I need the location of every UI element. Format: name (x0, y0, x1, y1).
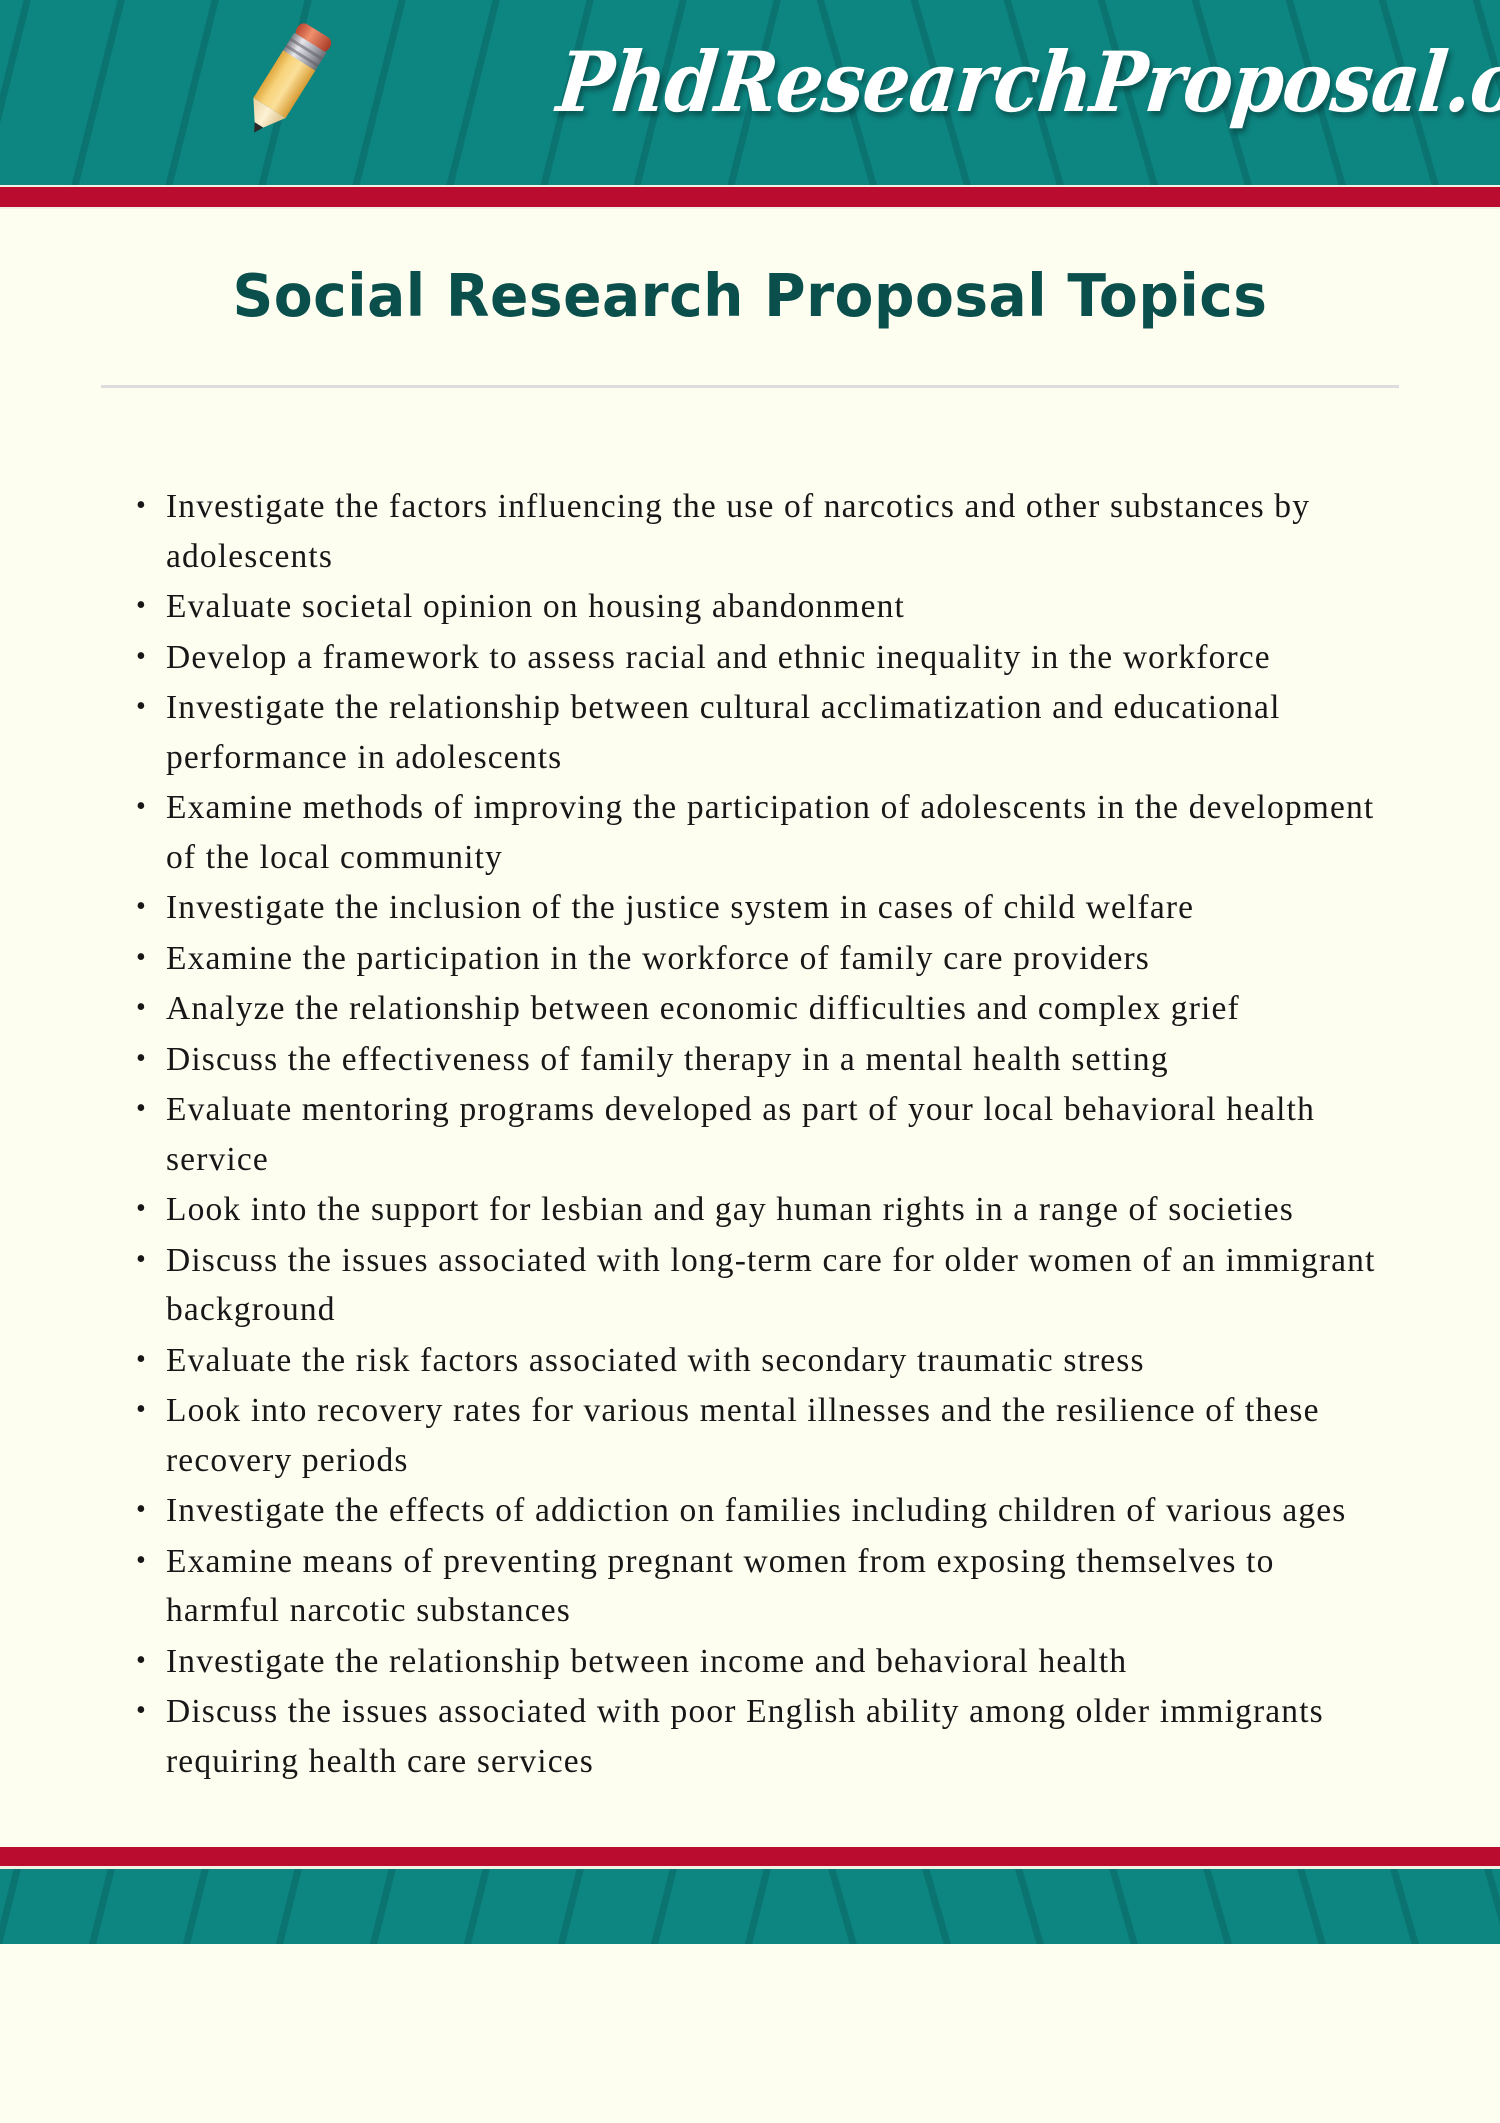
site-logo[interactable]: PhdResearchProposal.org (222, 18, 352, 143)
header-banner: PhdResearchProposal.org (0, 0, 1500, 185)
topic-list-item: Investigate the inclusion of the justice… (136, 883, 1390, 933)
decorative-stripe (812, 1869, 882, 1944)
footer-accent-bar (0, 1847, 1500, 1869)
decorative-stripe (1187, 1869, 1257, 1944)
decorative-stripe (1468, 1869, 1500, 1944)
topic-list-item: Investigate the factors influencing the … (136, 482, 1390, 581)
topic-list-item: Investigate the relationship between cul… (136, 683, 1390, 782)
topic-list-item: Look into recovery rates for various men… (136, 1386, 1390, 1485)
topic-list-item: Look into the support for lesbian and ga… (136, 1185, 1390, 1235)
decorative-stripe (629, 1869, 691, 1944)
footer-banner (0, 1869, 1500, 1944)
decorative-stripe (722, 1869, 784, 1944)
decorative-stripe (66, 1869, 128, 1944)
page-title: Social Research Proposal Topics (30, 245, 1470, 330)
topic-list-item: Investigate the effects of addiction on … (136, 1486, 1390, 1536)
header-accent-bar (0, 185, 1500, 209)
decorative-stripe (0, 1869, 35, 1944)
decorative-stripe (160, 1869, 222, 1944)
topic-list-item: Evaluate mentoring programs developed as… (136, 1085, 1390, 1184)
decorative-stripe (1093, 1869, 1163, 1944)
footer-stripe-pattern (0, 1869, 1500, 1944)
topic-list-item: Discuss the issues associated with poor … (136, 1687, 1390, 1786)
topic-list-item: Examine means of preventing pregnant wom… (136, 1537, 1390, 1636)
header-content: PhdResearchProposal.org (0, 0, 1500, 185)
pencil-icon (222, 18, 352, 143)
main-content: Social Research Proposal Topics Investig… (0, 209, 1500, 1786)
topic-list-item: Develop a framework to assess racial and… (136, 633, 1390, 683)
brand-name: PhdResearchProposal.org (553, 35, 1500, 131)
decorative-stripe (906, 1869, 976, 1944)
decorative-stripe (1000, 1869, 1070, 1944)
topic-list-item: Examine the participation in the workfor… (136, 934, 1390, 984)
topic-list-item: Examine methods of improving the partici… (136, 783, 1390, 882)
decorative-stripe (347, 1869, 409, 1944)
page-root: PhdResearchProposal.org Social Research … (0, 0, 1500, 2123)
decorative-stripe (254, 1869, 316, 1944)
topic-list-item: Discuss the issues associated with long-… (136, 1236, 1390, 1335)
decorative-stripe (535, 1869, 597, 1944)
decorative-stripe (441, 1869, 503, 1944)
footer-spacer (0, 1787, 1500, 1847)
decorative-stripe (1281, 1869, 1351, 1944)
decorative-stripe (1375, 1869, 1445, 1944)
topic-list: Investigate the factors influencing the … (0, 388, 1500, 1786)
topic-list-item: Evaluate the risk factors associated wit… (136, 1336, 1390, 1386)
topic-list-item: Investigate the relationship between inc… (136, 1637, 1390, 1687)
topic-list-item: Discuss the effectiveness of family ther… (136, 1035, 1390, 1085)
topic-list-item: Analyze the relationship between economi… (136, 984, 1390, 1034)
topic-list-item: Evaluate societal opinion on housing aba… (136, 582, 1390, 632)
